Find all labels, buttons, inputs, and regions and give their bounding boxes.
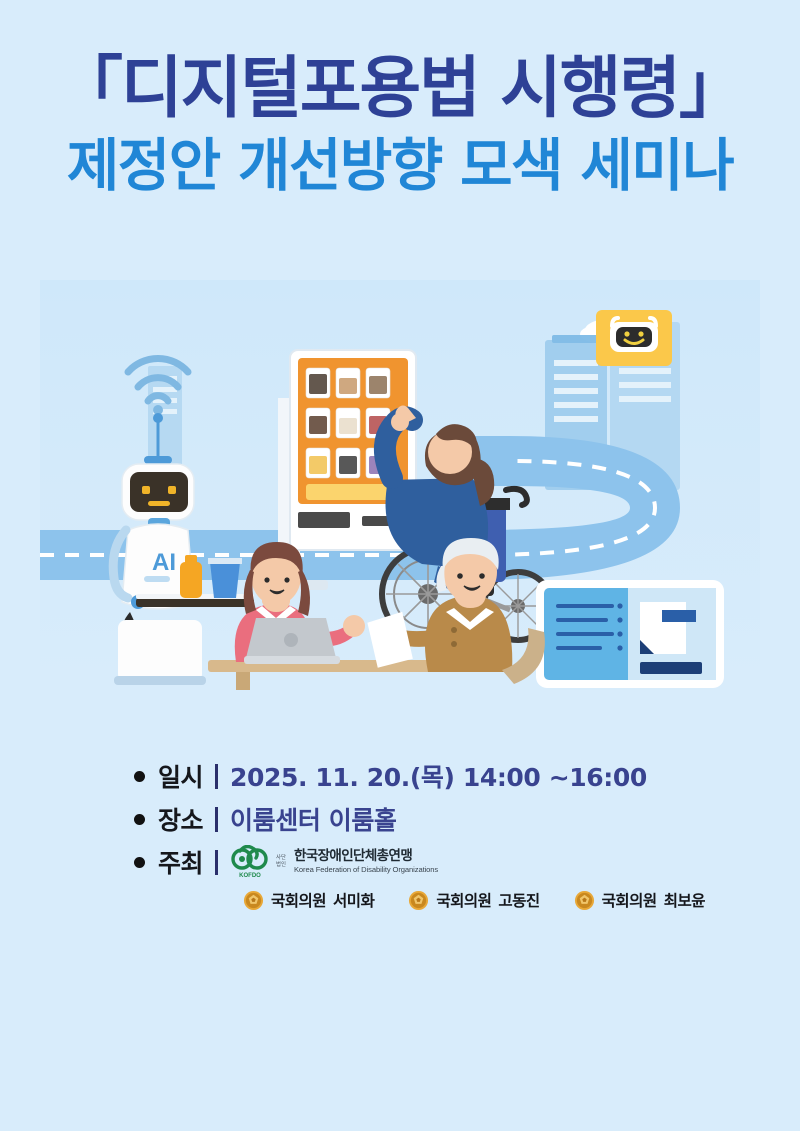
date-value: 2025. 11. 20.(목) 14:00 ~16:00	[230, 758, 647, 794]
lawmaker-title: 국회의원	[602, 889, 657, 911]
water-cup	[210, 562, 240, 598]
bullet-icon	[134, 814, 145, 825]
poster-title-line1: 「디지털포용법 시행령」	[0, 52, 800, 124]
lawmakers-list: 국회의원 서미화 국회의원 고동진	[0, 889, 800, 911]
tablet-checklist	[536, 580, 724, 688]
lawmaker-name: 고동진	[498, 889, 539, 911]
robot-face-card	[596, 310, 672, 366]
lawmaker-title: 국회의원	[436, 889, 491, 911]
kofdo-wheelchair-logo: KOFDO	[230, 845, 270, 879]
lawmaker-item: 국회의원 고동진	[408, 889, 539, 911]
organizer-prefix: 사단 법인	[276, 855, 286, 869]
separator-icon	[215, 850, 218, 875]
host-label: 주최	[158, 844, 203, 880]
bullet-icon	[134, 771, 145, 782]
robot-chest-label: AI	[152, 549, 176, 576]
info-row-host: 주최 KOFDO 사단 법인 한국장애인단체총연맹	[0, 844, 800, 880]
lawmaker-item: 국회의원 서미화	[243, 889, 374, 911]
seminar-poster: 「디지털포용법 시행령」 제정안 개선방향 모색 세미나	[0, 0, 800, 1131]
date-label: 일시	[158, 758, 203, 794]
info-row-date: 일시 2025. 11. 20.(목) 14:00 ~16:00	[0, 758, 800, 794]
bullet-icon	[134, 857, 145, 868]
national-assembly-emblem	[408, 890, 429, 911]
national-assembly-emblem	[574, 890, 595, 911]
kofdo-abbr: KOFDO	[239, 873, 261, 879]
organizer-name-en: Korea Federation of Disability Organizat…	[294, 866, 438, 874]
lawmaker-title: 국회의원	[271, 889, 326, 911]
separator-icon	[215, 807, 218, 832]
info-block: 일시 2025. 11. 20.(목) 14:00 ~16:00 장소 이룸센터…	[0, 758, 800, 911]
info-row-place: 장소 이룸센터 이룸홀	[0, 801, 800, 837]
lawmaker-name: 서미화	[333, 889, 374, 911]
lawmaker-name: 최보윤	[664, 889, 705, 911]
place-label: 장소	[158, 801, 203, 837]
illustration: AI	[40, 280, 760, 690]
place-value: 이룸센터 이룸홀	[230, 801, 397, 837]
lawmaker-item: 국회의원 최보윤	[574, 889, 705, 911]
poster-title-line2: 제정안 개선방향 모색 세미나	[0, 134, 800, 200]
organizer-logo: KOFDO 사단 법인 한국장애인단체총연맹 Korea Federation …	[230, 845, 438, 879]
organizer-name-kr: 한국장애인단체총연맹	[294, 850, 438, 864]
national-assembly-emblem	[243, 890, 264, 911]
juice-bottle	[180, 562, 202, 598]
separator-icon	[215, 764, 218, 789]
poster-title-block: 「디지털포용법 시행령」 제정안 개선방향 모색 세미나	[0, 52, 800, 200]
